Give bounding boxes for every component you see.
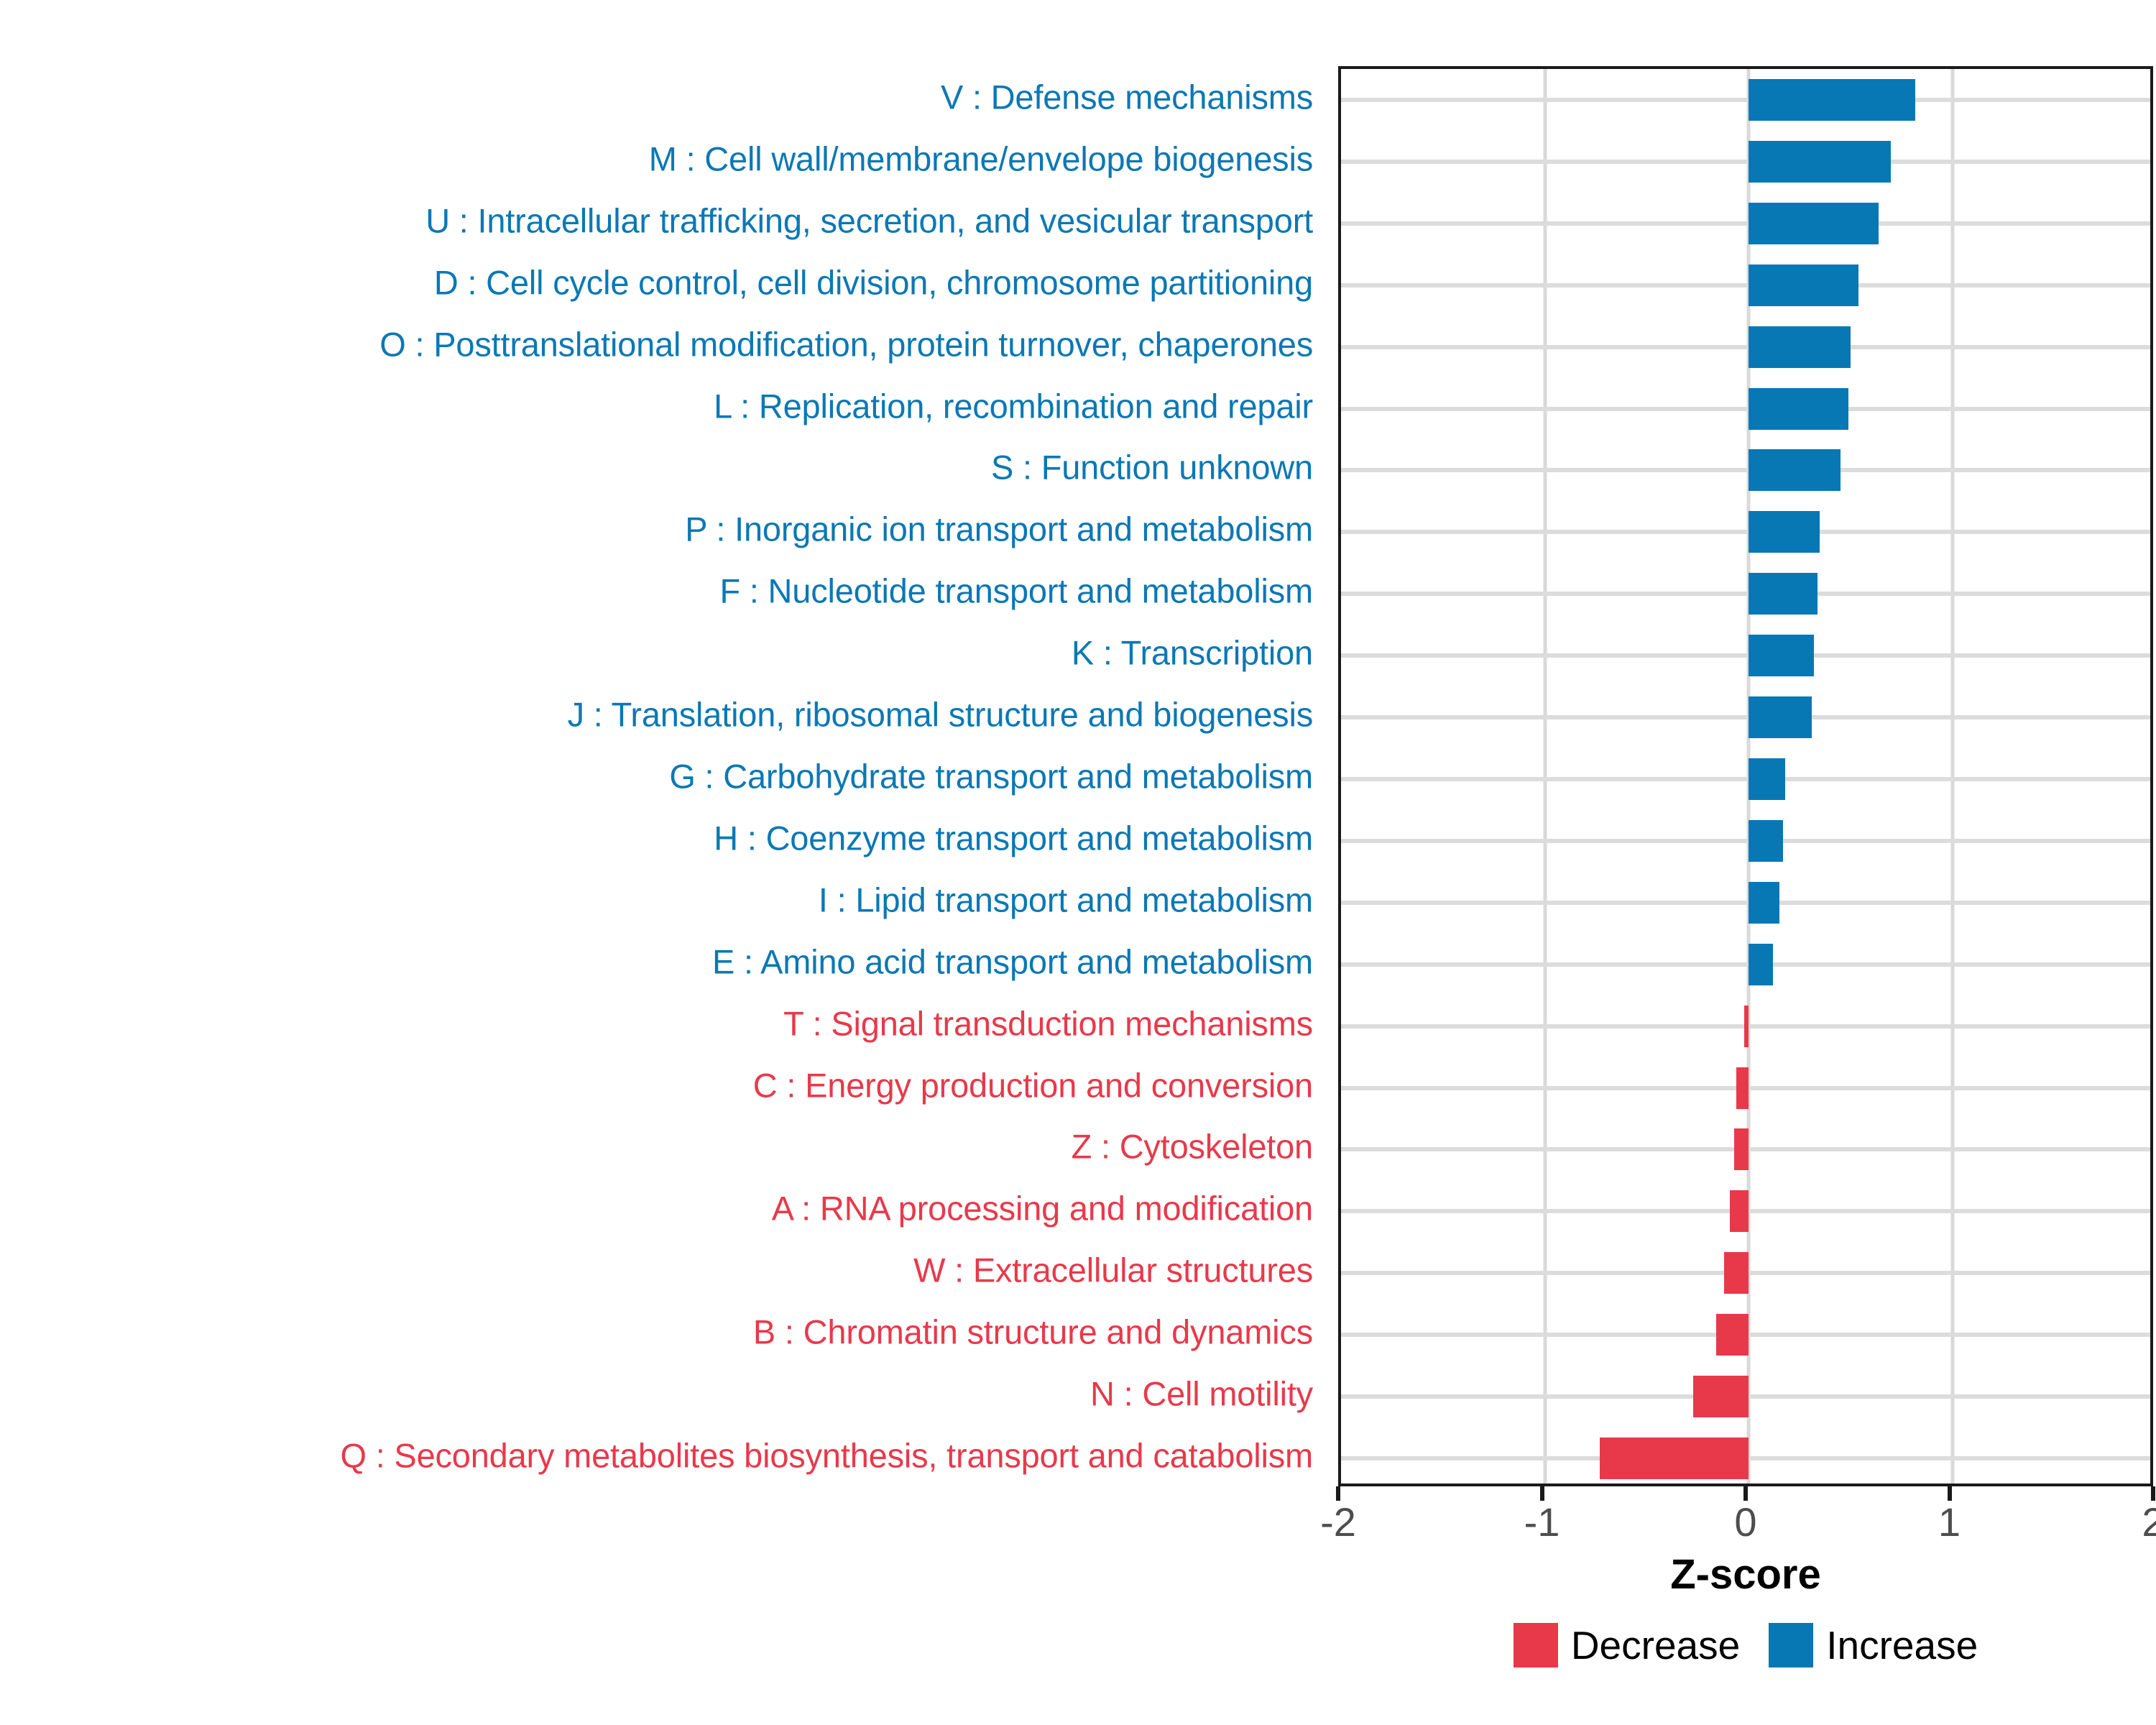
category-label: T : Signal transduction mechanisms xyxy=(783,1006,1313,1040)
bar[interactable] xyxy=(1749,882,1779,924)
legend: DecreaseIncrease xyxy=(1338,1623,2153,1667)
category-label: A : RNA processing and modification xyxy=(772,1192,1313,1225)
x-axis-tick xyxy=(1743,1486,1748,1501)
x-axis-tick-label: 0 xyxy=(1734,1502,1756,1542)
bar[interactable] xyxy=(1749,696,1812,738)
category-label: I : Lipid transport and metabolism xyxy=(819,883,1313,916)
cog-zscore-bar-chart: V : Defense mechanismsM : Cell wall/memb… xyxy=(0,0,2156,1725)
category-label: N : Cell motility xyxy=(1090,1377,1313,1411)
y-gridline xyxy=(1341,468,2150,472)
bar[interactable] xyxy=(1749,820,1783,862)
legend-item-up[interactable]: Increase xyxy=(1769,1623,1978,1667)
y-gridline xyxy=(1341,98,2150,102)
bar[interactable] xyxy=(1749,203,1879,244)
bar[interactable] xyxy=(1724,1252,1749,1294)
legend-swatch-up xyxy=(1769,1623,1813,1667)
category-label: D : Cell cycle control, cell division, c… xyxy=(434,265,1313,299)
x-axis-tick-label: -1 xyxy=(1524,1502,1560,1542)
category-axis-labels: V : Defense mechanismsM : Cell wall/memb… xyxy=(0,66,1326,1486)
category-label: F : Nucleotide transport and metabolism xyxy=(719,574,1313,608)
bar[interactable] xyxy=(1716,1314,1749,1356)
bar[interactable] xyxy=(1744,1006,1749,1047)
y-gridline xyxy=(1341,653,2150,658)
bar[interactable] xyxy=(1600,1437,1749,1479)
y-gridline xyxy=(1341,221,2150,226)
y-gridline xyxy=(1341,530,2150,534)
bar[interactable] xyxy=(1749,635,1814,676)
bar[interactable] xyxy=(1749,944,1773,985)
bar[interactable] xyxy=(1730,1190,1749,1232)
bar[interactable] xyxy=(1736,1067,1749,1109)
x-axis-tick-label: 2 xyxy=(2142,1502,2156,1542)
x-axis-tick-label: 1 xyxy=(1938,1502,1961,1542)
x-axis-tick xyxy=(2151,1486,2155,1501)
category-label: K : Transcription xyxy=(1072,636,1313,670)
x-axis-tick xyxy=(1948,1486,1952,1501)
category-label: B : Chromatin structure and dynamics xyxy=(753,1315,1313,1349)
legend-label: Decrease xyxy=(1571,1626,1740,1665)
legend-label: Increase xyxy=(1826,1626,1978,1665)
category-label: S : Function unknown xyxy=(991,451,1313,484)
legend-item-down[interactable]: Decrease xyxy=(1514,1623,1740,1667)
bar[interactable] xyxy=(1749,573,1818,615)
category-label: G : Carbohydrate transport and metabolis… xyxy=(669,760,1313,793)
y-gridline xyxy=(1341,407,2150,411)
x-axis-tick-label: -2 xyxy=(1320,1502,1356,1542)
category-label: P : Inorganic ion transport and metaboli… xyxy=(685,512,1313,546)
y-gridline xyxy=(1341,962,2150,967)
x-axis-tick xyxy=(1336,1486,1340,1501)
y-gridline xyxy=(1341,715,2150,719)
category-label: O : Posttranslational modification, prot… xyxy=(379,327,1313,361)
plot-area xyxy=(1341,69,2150,1483)
bar[interactable] xyxy=(1749,758,1785,800)
bar[interactable] xyxy=(1749,79,1915,121)
y-gridline xyxy=(1341,283,2150,287)
y-gridline xyxy=(1341,160,2150,164)
bar[interactable] xyxy=(1749,449,1841,491)
category-label: Q : Secondary metabolites biosynthesis, … xyxy=(340,1439,1313,1473)
x-axis-tick xyxy=(1540,1486,1544,1501)
category-label: W : Extracellular structures xyxy=(913,1253,1313,1287)
bar[interactable] xyxy=(1693,1376,1749,1417)
category-label: J : Translation, ribosomal structure and… xyxy=(568,698,1313,732)
x-axis-tick-labels: -2-1012 xyxy=(1338,1502,2153,1545)
category-label: U : Intracellular trafficking, secretion… xyxy=(425,203,1313,237)
bar[interactable] xyxy=(1749,326,1851,368)
category-label: Z : Cytoskeleton xyxy=(1072,1130,1313,1164)
y-gridline xyxy=(1341,839,2150,843)
y-gridline xyxy=(1341,901,2150,905)
y-gridline xyxy=(1341,592,2150,596)
bar[interactable] xyxy=(1749,511,1820,553)
category-label: M : Cell wall/membrane/envelope biogenes… xyxy=(649,142,1313,175)
category-label: V : Defense mechanisms xyxy=(941,80,1313,114)
x-axis-title: Z-score xyxy=(1338,1554,2153,1596)
y-gridline xyxy=(1341,345,2150,349)
plot-panel xyxy=(1338,66,2153,1486)
y-gridline xyxy=(1341,777,2150,781)
bar[interactable] xyxy=(1749,388,1848,430)
category-label: H : Coenzyme transport and metabolism xyxy=(714,821,1313,855)
category-label: E : Amino acid transport and metabolism xyxy=(712,944,1313,978)
bar[interactable] xyxy=(1749,141,1891,183)
bar[interactable] xyxy=(1749,264,1858,306)
legend-swatch-down xyxy=(1514,1623,1558,1667)
x-axis-ticks xyxy=(1338,1486,2153,1501)
category-label: C : Energy production and conversion xyxy=(753,1068,1313,1102)
category-label: L : Replication, recombination and repai… xyxy=(714,389,1313,423)
bar[interactable] xyxy=(1734,1128,1749,1170)
